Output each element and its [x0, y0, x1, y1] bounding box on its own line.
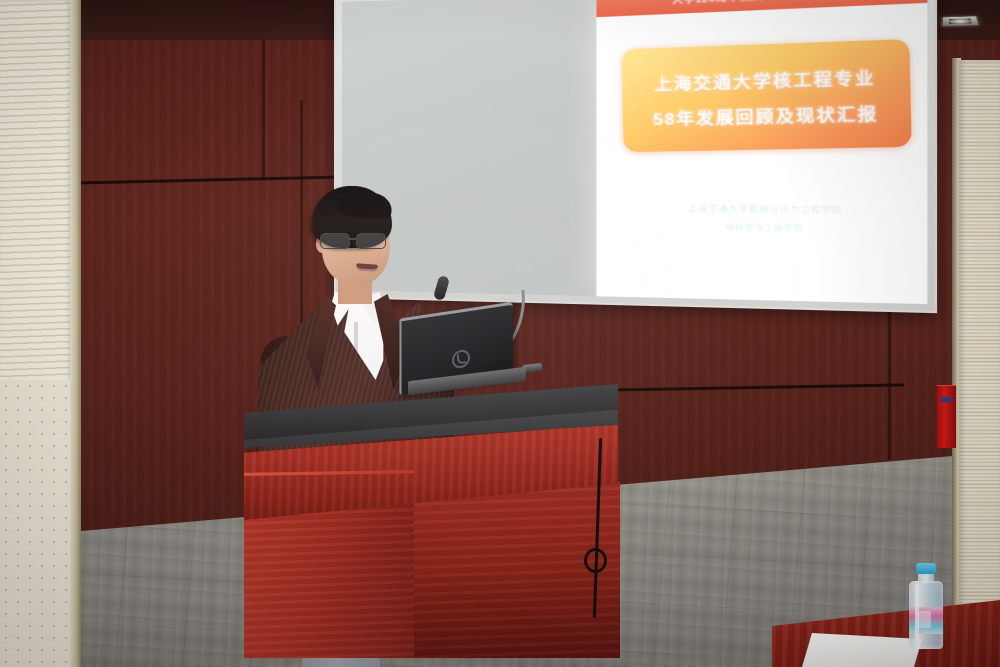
bottle-highlight	[915, 585, 919, 643]
fire-cabinet-label	[941, 397, 952, 402]
slide-banner-text: 大学120周年校庆——核学科发展论坛	[672, 0, 871, 6]
white-paper-sheet	[802, 633, 922, 667]
eyeglass-lens-right	[356, 233, 386, 249]
wall-seam	[262, 40, 265, 180]
slide-banner: 大学120周年校庆——核学科发展论坛	[596, 0, 927, 17]
power-cable-loop	[584, 548, 607, 573]
slide-title-box: 上海交通大学核工程专业 58年发展回顾及现状汇报	[622, 39, 912, 152]
fire-extinguisher-cabinet	[937, 385, 956, 448]
left-perforated-acoustic-panel	[0, 380, 72, 667]
recessed-downlight-icon	[942, 16, 979, 27]
mouth	[356, 263, 378, 272]
projected-slide: 大学120周年校庆——核学科发展论坛 上海交通大学核工程专业 58年发展回顾及现…	[596, 0, 927, 304]
lectern	[238, 358, 624, 667]
water-bottle	[905, 563, 947, 649]
right-slatted-column	[959, 60, 1000, 667]
slide-footer-line-1: 上海交通大学机械与动力工程学院	[688, 203, 842, 216]
slide-footer-line-2: 核科学与工程学院	[726, 221, 804, 234]
bottle-cap	[916, 563, 936, 574]
slide-footer: 上海交通大学机械与动力工程学院 核科学与工程学院	[596, 202, 927, 236]
eyeglasses-icon	[320, 233, 392, 248]
slide-title-line-2: 58年发展回顾及现状汇报	[653, 99, 879, 130]
eyeglass-lens-left	[320, 233, 350, 249]
slide-title-line-1: 上海交通大学核工程专业	[654, 63, 876, 96]
left-panel-edge	[70, 0, 81, 667]
presentation-photo: 大学120周年校庆——核学科发展论坛 上海交通大学核工程专业 58年发展回顾及现…	[0, 0, 1000, 667]
bottle-neck	[918, 573, 934, 583]
